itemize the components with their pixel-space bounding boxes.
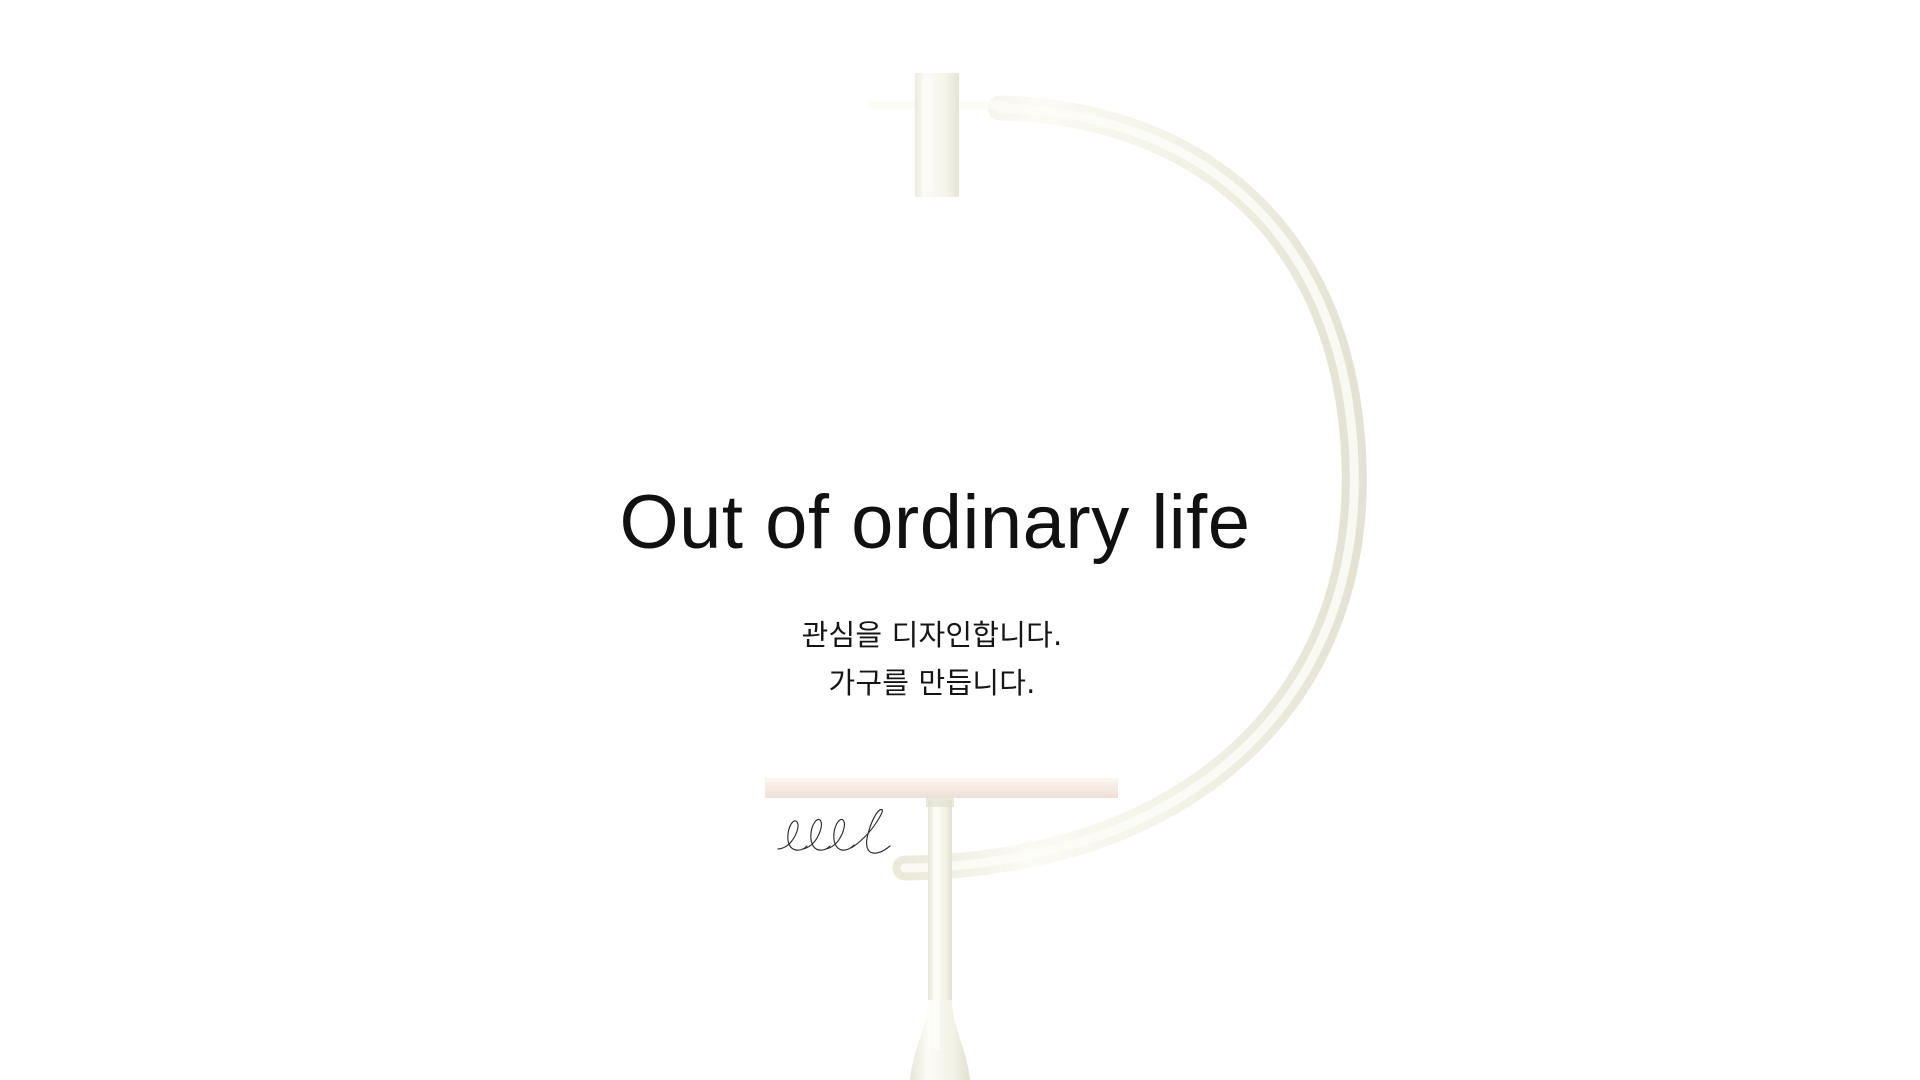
hero-subcopy-line-2: 가구를 만듭니다.: [0, 660, 1864, 708]
hero-subcopy-line-1: 관심을 디자인합니다.: [0, 612, 1864, 660]
hero-content: Out of ordinary life 관심을 디자인합니다. 가구를 만듭니…: [0, 0, 1920, 1080]
hero-stage: Out of ordinary life 관심을 디자인합니다. 가구를 만듭니…: [0, 0, 1920, 1080]
hero-subcopy: 관심을 디자인합니다. 가구를 만듭니다.: [0, 612, 1864, 708]
hero-headline: Out of ordinary life: [0, 483, 1870, 563]
brand-wordmark-eeel[interactable]: [770, 808, 900, 860]
